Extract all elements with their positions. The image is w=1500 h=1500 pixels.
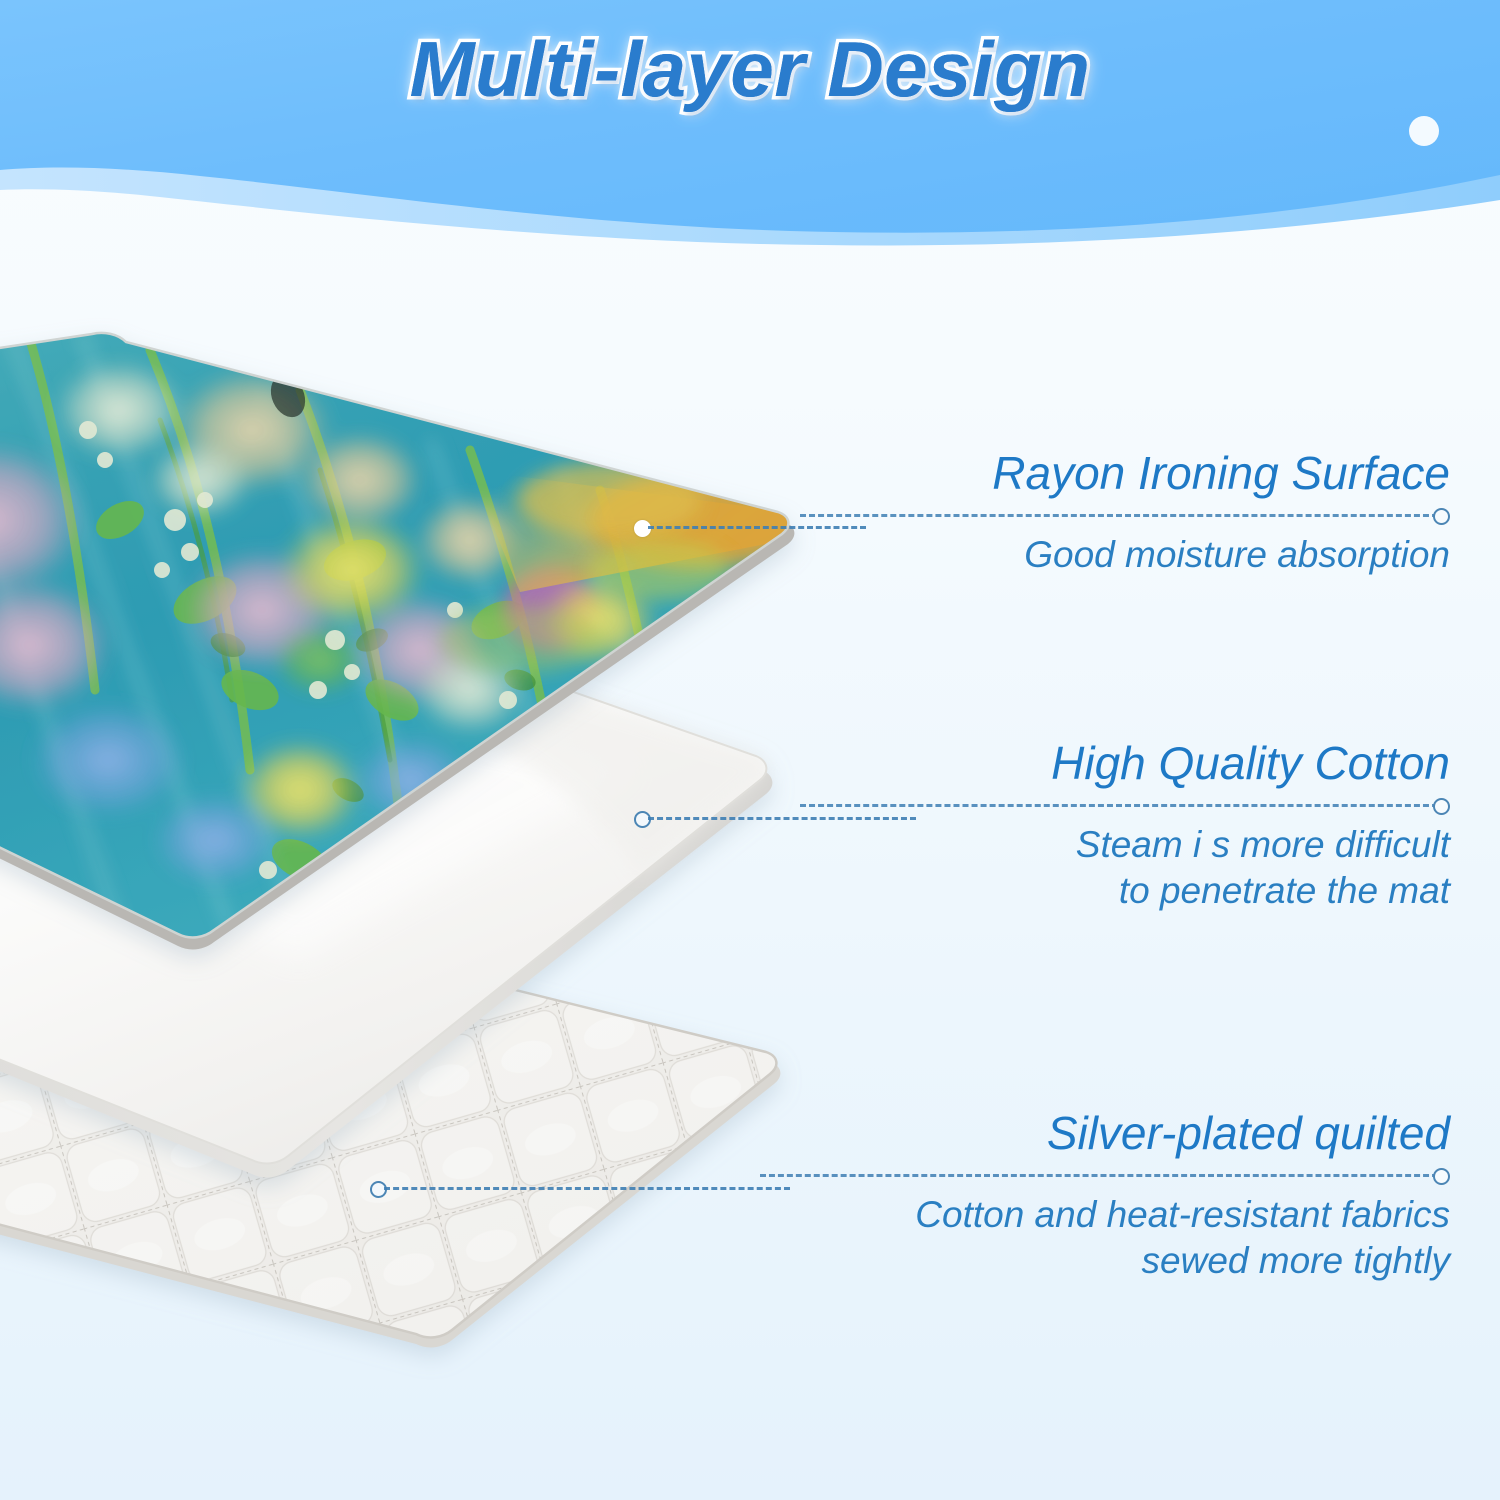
callout-underline <box>800 504 1450 526</box>
callout-rayon-ironing-surface: Rayon Ironing Surface Good moisture abso… <box>800 448 1450 578</box>
callout-subtext-line: to penetrate the mat <box>800 868 1450 915</box>
dashed-line-icon <box>384 1187 790 1190</box>
dashed-line-icon <box>800 804 1438 807</box>
infographic-canvas: Multi-layer Design Multi-layer Design <box>0 0 1500 1500</box>
circle-marker-icon <box>1433 798 1450 815</box>
callout-underline <box>760 1164 1450 1186</box>
callout-subtext-line: Cotton and heat-resistant fabrics <box>760 1192 1450 1239</box>
circle-marker-icon <box>1433 508 1450 525</box>
callout-title: Rayon Ironing Surface <box>800 448 1450 500</box>
leader-line-quilted <box>370 1178 790 1198</box>
callout-title: Silver-plated quilted <box>760 1108 1450 1160</box>
callout-subtext-line: Good moisture absorption <box>800 532 1450 579</box>
callout-title: High Quality Cotton <box>800 738 1450 790</box>
callout-silver-plated-quilted: Silver-plated quilted Cotton and heat-re… <box>760 1108 1450 1285</box>
callout-subtext-line: sewed more tightly <box>760 1238 1450 1285</box>
callout-subtext-line: Steam i s more difficult <box>800 822 1450 869</box>
dashed-line-icon <box>800 514 1438 517</box>
circle-marker-icon <box>1433 1168 1450 1185</box>
callout-underline <box>800 794 1450 816</box>
dashed-line-icon <box>760 1174 1438 1177</box>
callout-high-quality-cotton: High Quality Cotton Steam i s more diffi… <box>800 738 1450 915</box>
page-title-outline: Multi-layer Design <box>0 24 1500 115</box>
